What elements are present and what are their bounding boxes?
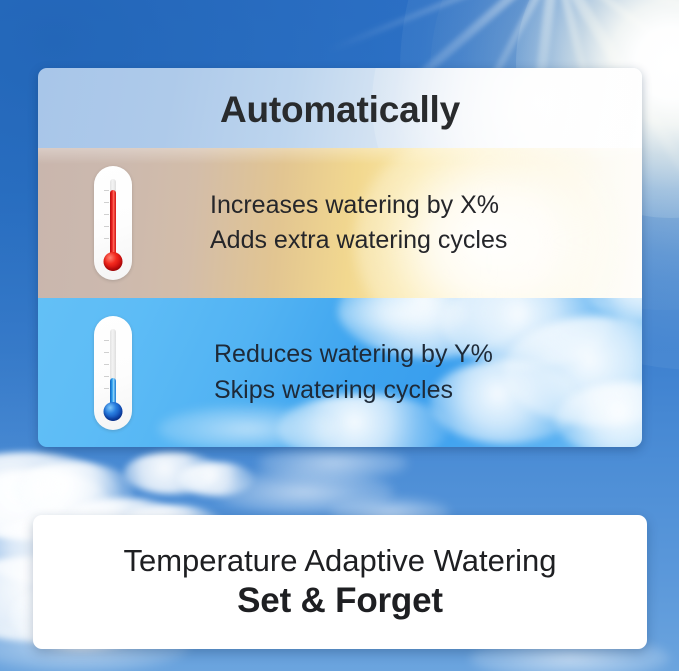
- thermometer-bulb-cold: [104, 402, 123, 421]
- cold-band-line-2: Skips watering cycles: [214, 374, 493, 408]
- thermometer-tick: [104, 226, 109, 227]
- thermometer-tick: [104, 388, 109, 389]
- thermometer-bulb-hot: [104, 252, 123, 271]
- promo-image-scene: Automatically Increases watering by X% A…: [0, 0, 679, 671]
- hot-band-line-1: Increases watering by X%: [210, 189, 507, 223]
- thermometer-tick: [104, 340, 109, 341]
- thermometer-cold-icon: [94, 316, 132, 430]
- page-title: Automatically: [220, 91, 460, 128]
- feature-card: Automatically Increases watering by X% A…: [38, 68, 642, 447]
- thermometer-tick: [104, 376, 109, 377]
- caption-panel: Temperature Adaptive Watering Set & Forg…: [33, 515, 647, 649]
- caption-tagline: Set & Forget: [237, 581, 443, 620]
- thermometer-mercury-cold: [110, 378, 116, 404]
- thermometer-tick: [104, 214, 109, 215]
- thermometer-tick: [104, 352, 109, 353]
- hot-condition-band: Increases watering by X% Adds extra wate…: [38, 148, 642, 298]
- hot-band-line-2: Adds extra watering cycles: [210, 224, 507, 258]
- cloud-wisp: [258, 446, 408, 480]
- thermometer-tick: [104, 238, 109, 239]
- cold-band-text: Reduces watering by Y% Skips watering cy…: [214, 298, 493, 447]
- thermometer-hot-icon: [94, 166, 132, 280]
- thermometer-tick: [104, 364, 109, 365]
- card-header: Automatically: [38, 68, 642, 148]
- cold-band-line-1: Reduces watering by Y%: [214, 338, 493, 372]
- hot-band-text: Increases watering by X% Adds extra wate…: [210, 148, 507, 298]
- cold-condition-band: Reduces watering by Y% Skips watering cy…: [38, 298, 642, 447]
- thermometer-mercury-hot: [110, 190, 116, 254]
- thermometer-tick: [104, 202, 109, 203]
- thermometer-tick: [104, 190, 109, 191]
- caption-primary: Temperature Adaptive Watering: [123, 544, 556, 579]
